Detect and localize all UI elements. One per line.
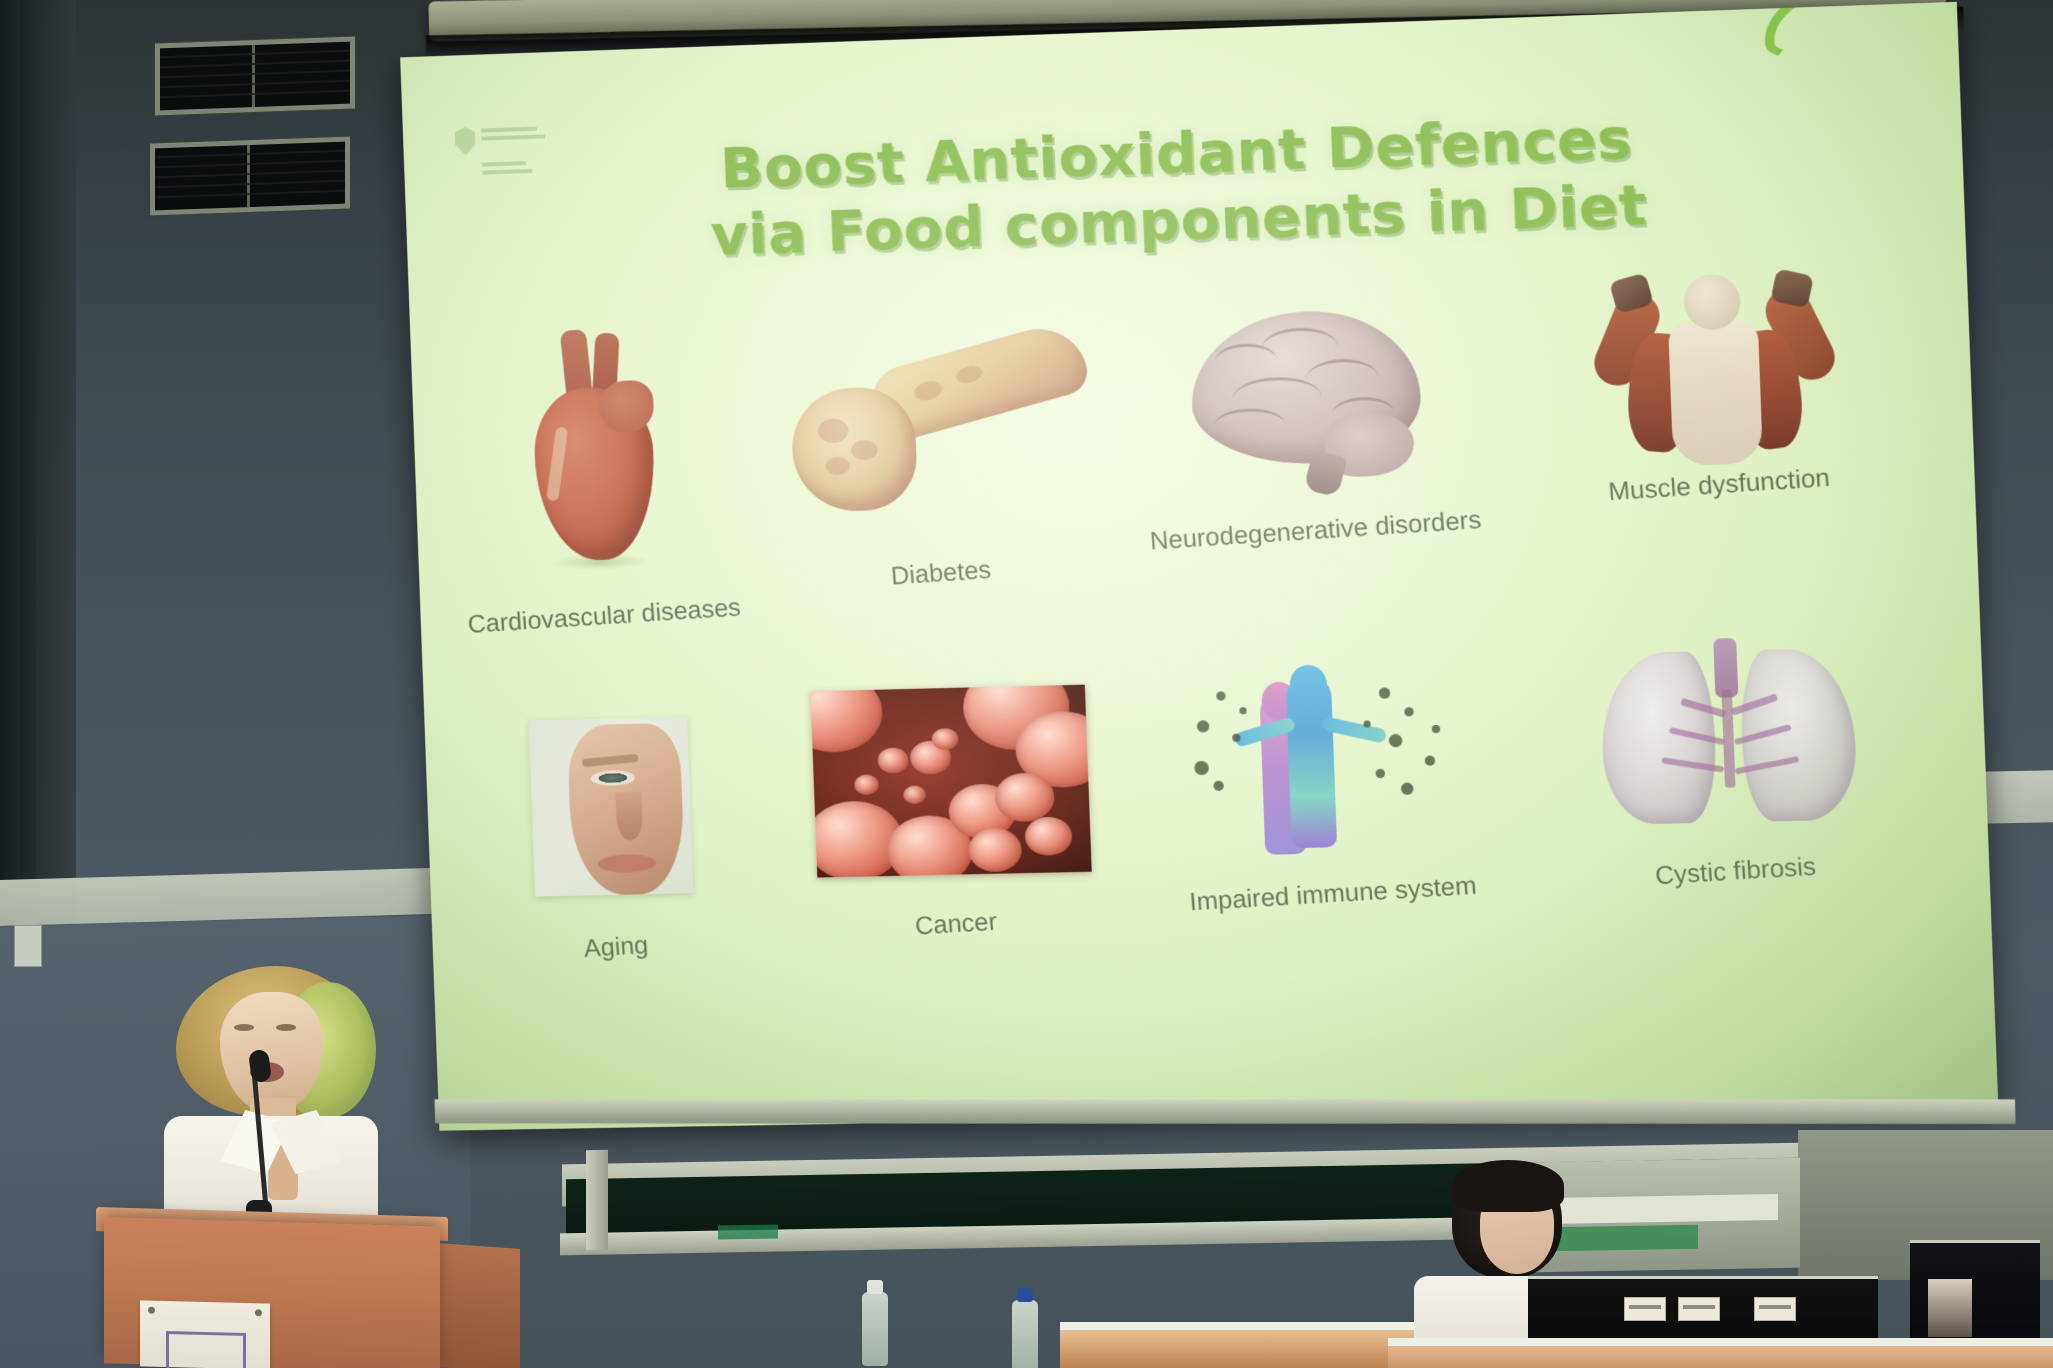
human-face-photo [528, 716, 693, 896]
seated-person-hair [1452, 1160, 1564, 1212]
human-silhouettes-with-particles-image [1191, 661, 1466, 860]
water-bottle-white-cap [862, 1292, 888, 1366]
right-board-white-strip [1548, 1194, 1778, 1224]
wall-socket [14, 925, 42, 967]
brain-organ-image [1189, 302, 1433, 502]
front-table [1388, 1346, 2053, 1368]
slide-item-label: Impaired immune system [1188, 871, 1477, 917]
heart-organ-image [518, 327, 677, 567]
slide-item-label: Neurodegenerative disorders [1149, 506, 1482, 557]
screenshot-root: Boost Antioxidant Defences via Food comp… [0, 0, 2053, 1368]
wall-vent-upper [155, 37, 355, 116]
laptop-sticker-1 [1624, 1297, 1666, 1321]
slide-item-neurodegenerative: Neurodegenerative disorders [1105, 258, 1522, 695]
leaf-swoosh-graphic [1757, 2, 1943, 69]
pancreas-organ-image [781, 337, 1092, 517]
muscular-back-figure-image [1602, 271, 1829, 497]
slide-item-cancer: Cancer [765, 684, 1144, 1055]
laptop-sticker-2 [1678, 1297, 1720, 1321]
slide-item-label: Diabetes [890, 556, 992, 592]
water-bottle-blue-cap [1012, 1300, 1038, 1368]
projected-slide: Boost Antioxidant Defences via Food comp… [400, 2, 1998, 1131]
slide-item-immune: Impaired immune system [1124, 660, 1539, 1034]
slide-item-diabetes: Diabetes [748, 281, 1129, 715]
slide-item-label: Cystic fibrosis [1654, 852, 1817, 891]
slide-item-label: Cardiovascular diseases [467, 593, 742, 640]
laptop-sticker-3 [1754, 1297, 1796, 1321]
slide-item-cystic-fibrosis: Cystic fibrosis [1519, 633, 1950, 1010]
right-board-green-strip [1548, 1225, 1698, 1252]
chalkboard-eraser [718, 1224, 778, 1239]
presenter-at-podium [146, 966, 396, 1236]
screen-bottom-edge [435, 1099, 2016, 1124]
red-blood-cells-image [810, 685, 1091, 878]
chalkboard-post [586, 1150, 608, 1250]
lungs-organ-image [1597, 635, 1865, 835]
slide-item-grid: Cardiovascular diseases Diabetes [409, 244, 1997, 1091]
slide-item-muscle: Muscle dysfunction [1502, 233, 1935, 674]
projection-screen-assembly: Boost Antioxidant Defences via Food comp… [438, 0, 2053, 1140]
wall-vent-lower [150, 137, 350, 216]
slide-item-cardiovascular: Cardiovascular diseases [427, 300, 774, 730]
slide-item-aging: Aging [442, 714, 787, 1082]
slide-item-label: Cancer [914, 908, 998, 942]
podium-plate [140, 1300, 270, 1368]
slide-item-label: Aging [583, 931, 649, 964]
